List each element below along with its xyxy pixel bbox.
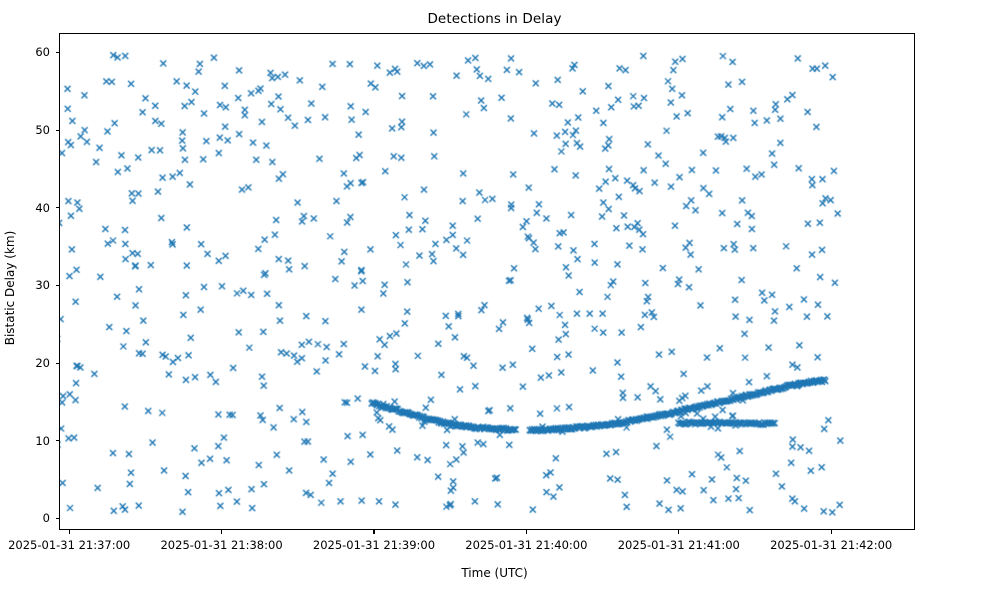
x-axis-tick-label: 2025-01-31 21:40:00 [465,538,587,552]
y-axis-tick-label: 20 [35,356,50,370]
plot-area [59,33,915,530]
y-axis-tick-mark [56,130,60,131]
y-axis-tick-mark [56,52,60,53]
matplotlib-figure: Detections in Delay 0102030405060 Bistat… [0,0,989,590]
x-axis-tick-label: 2025-01-31 21:41:00 [618,538,740,552]
y-axis-tick-mark [56,518,60,519]
x-axis-tick-label: 2025-01-31 21:38:00 [160,538,282,552]
x-axis-tick-mark [526,530,527,534]
y-axis-tick-label: 0 [43,511,50,525]
x-axis-label: Time (UTC) [0,566,989,580]
y-axis-tick-label: 10 [35,434,50,448]
y-axis-tick-mark [56,440,60,441]
y-axis-label: Bistatic Delay (km) [3,88,17,488]
y-axis-tick-label: 30 [35,278,50,292]
y-axis-tick-mark [56,363,60,364]
x-axis-tick-mark [373,530,374,534]
x-axis-tick-mark [678,530,679,534]
scatter-plot-canvas [60,34,914,529]
y-axis-tick-label: 60 [35,45,50,59]
x-axis-tick-mark [69,530,70,534]
y-axis-tick-label: 40 [35,201,50,215]
page-title: Detections in Delay [0,11,989,27]
x-axis-tick-mark [221,530,222,534]
x-axis-tick-mark [831,530,832,534]
x-axis-tick-label: 2025-01-31 21:39:00 [313,538,435,552]
x-axis-tick-label: 2025-01-31 21:42:00 [770,538,892,552]
y-axis-tick-mark [56,285,60,286]
x-axis-tick-label: 2025-01-31 21:37:00 [8,538,130,552]
y-axis-tick-mark [56,207,60,208]
y-axis-tick-label: 50 [35,123,50,137]
